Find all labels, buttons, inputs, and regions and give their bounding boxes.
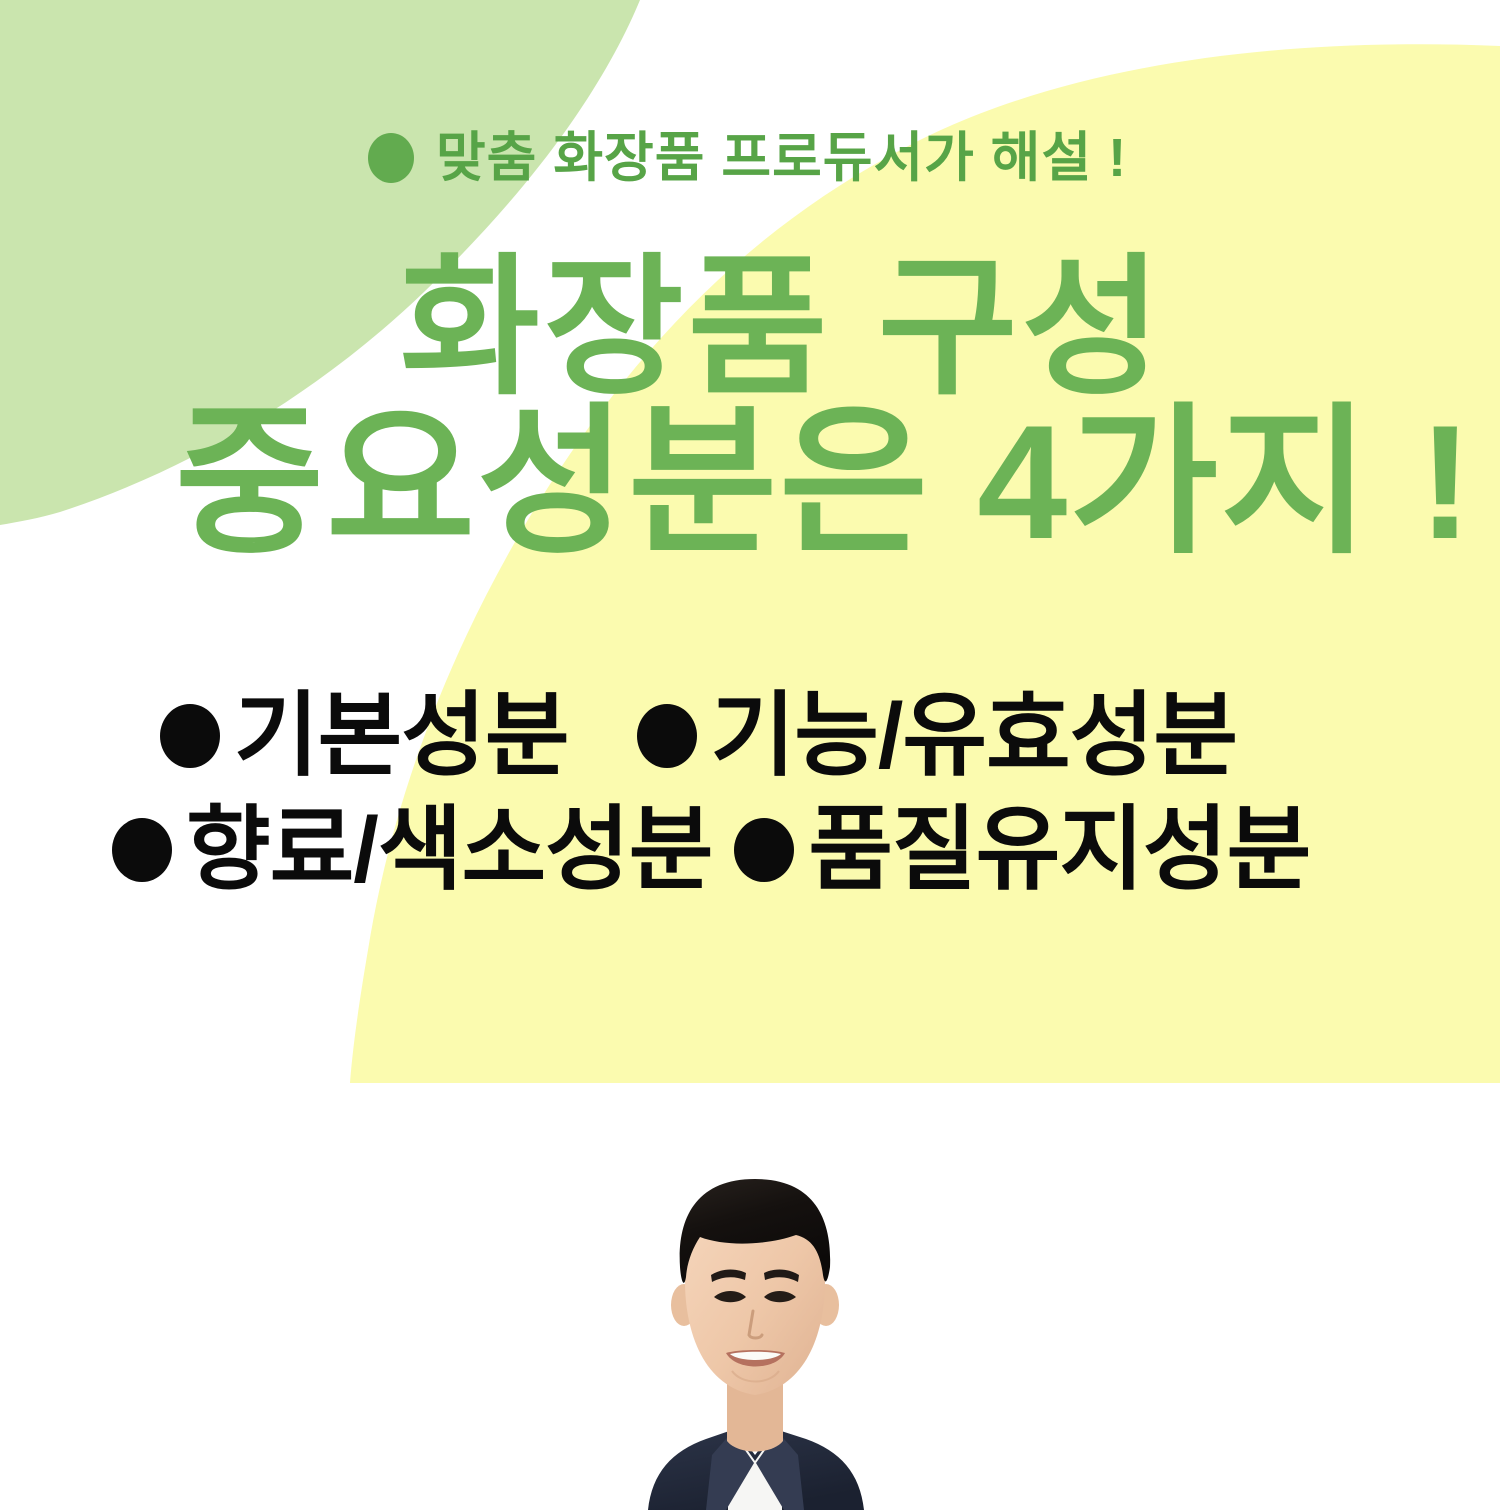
- ingredient-item-functional: 기능/유효성분: [637, 690, 1237, 782]
- presenter-portrait-photo: [520, 1155, 990, 1510]
- bullet-circle-icon: [160, 704, 220, 768]
- bullet-circle-icon: [112, 818, 172, 882]
- ingredient-item-fragrance-color: 향료/색소성분: [112, 804, 712, 896]
- subtitle-bullet-icon: [368, 133, 414, 183]
- bullet-circle-icon: [734, 818, 794, 882]
- ingredient-label: 품질유지성분: [808, 804, 1310, 896]
- subtitle: 맞춤 화장품 프로듀서가 해설 !: [368, 131, 1127, 185]
- ingredient-label: 기본성분: [234, 690, 569, 782]
- ingredient-list: 기본성분 기능/유효성분 향료/색소성분 품질유지성분: [0, 690, 1500, 896]
- headline-line-2: 중요성분은 4가지 !: [175, 402, 1474, 564]
- ingredient-row: 향료/색소성분 품질유지성분: [0, 804, 1500, 896]
- headline-line-1: 화장품 구성: [400, 252, 1165, 404]
- ingredient-item-basic: 기본성분: [160, 690, 569, 782]
- subtitle-text: 맞춤 화장품 프로듀서가 해설 !: [436, 131, 1127, 185]
- ingredient-item-preservative: 품질유지성분: [734, 804, 1310, 896]
- ingredient-row: 기본성분 기능/유효성분: [0, 690, 1500, 782]
- ingredient-label: 향료/색소성분: [186, 804, 712, 896]
- poster-canvas: 맞춤 화장품 프로듀서가 해설 ! 화장품 구성 중요성분은 4가지 ! 기본성…: [0, 0, 1500, 1510]
- ingredient-label: 기능/유효성분: [711, 690, 1237, 782]
- bullet-circle-icon: [637, 704, 697, 768]
